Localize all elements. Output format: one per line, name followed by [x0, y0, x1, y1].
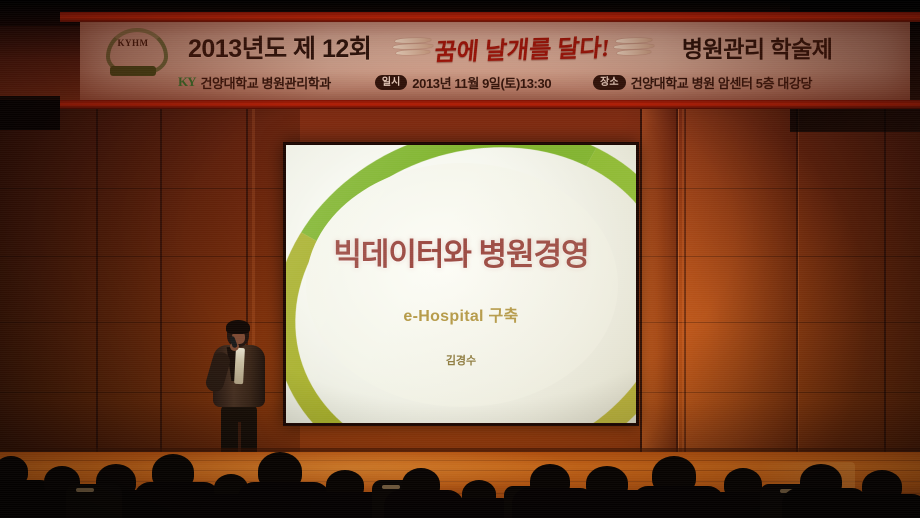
- banner-slogan: 꿈에 날개를 달다!: [433, 27, 611, 67]
- banner-headline: 2013년도 제 12회: [188, 29, 371, 65]
- wall-pilaster: [684, 104, 799, 452]
- wall-seam: [160, 104, 162, 452]
- banner-place-group: 장소 건양대학교 병원 암센터 5층 대강당: [593, 73, 812, 92]
- banner-place: 건양대학교 병원 암센터 5층 대강당: [631, 73, 813, 92]
- slide-content: 빅데이터와 병원경영 e-Hospital 구축 김경수: [286, 145, 636, 423]
- presenter-hair: [226, 320, 250, 334]
- banner-organizer: 건양대학교 병원관리학과: [201, 73, 331, 92]
- banner-headline-row: 2013년도 제 12회 꿈에 날개를 달다! 병원관리 학술제: [80, 25, 910, 69]
- wing-icon-left: [393, 36, 435, 58]
- slide-title: 빅데이터와 병원경영: [333, 229, 588, 274]
- ky-mark-icon: KY: [178, 74, 196, 90]
- wall-seam: [96, 104, 98, 452]
- ceiling-shadow-left: [0, 96, 60, 130]
- wall-seam: [884, 104, 886, 452]
- slide-subtitle: e-Hospital 구축: [403, 302, 518, 326]
- projection-screen: 빅데이터와 병원경영 e-Hospital 구축 김경수: [286, 145, 636, 423]
- banner-details-row: KY 건양대학교 병원관리학과 일시 2013년 11월 9일(토)13:30 …: [80, 68, 910, 96]
- date-badge: 일시: [375, 75, 407, 90]
- audience: [0, 440, 920, 518]
- banner-date: 2013년 11월 9일(토)13:30: [412, 73, 551, 92]
- wall-pilaster: [640, 104, 679, 452]
- wing-icon-right: [614, 36, 656, 58]
- auditorium-photo: KYHM 2013년도 제 12회 꿈에 날개를 달다! 병원관리 학술제 KY…: [0, 0, 920, 518]
- banner-event-name: 병원관리 학술제: [682, 30, 833, 64]
- presenter-tie: [234, 348, 245, 384]
- banner-date-group: 일시 2013년 11월 9일(토)13:30: [375, 73, 551, 92]
- slide-author: 김경수: [446, 352, 476, 368]
- event-banner: KYHM 2013년도 제 12회 꿈에 날개를 달다! 병원관리 학술제 KY…: [80, 22, 910, 100]
- place-badge: 장소: [593, 75, 625, 90]
- banner-rail-top: [60, 12, 920, 22]
- banner-organizer-group: KY 건양대학교 병원관리학과: [178, 73, 331, 92]
- banner-rail-bottom: [60, 100, 920, 109]
